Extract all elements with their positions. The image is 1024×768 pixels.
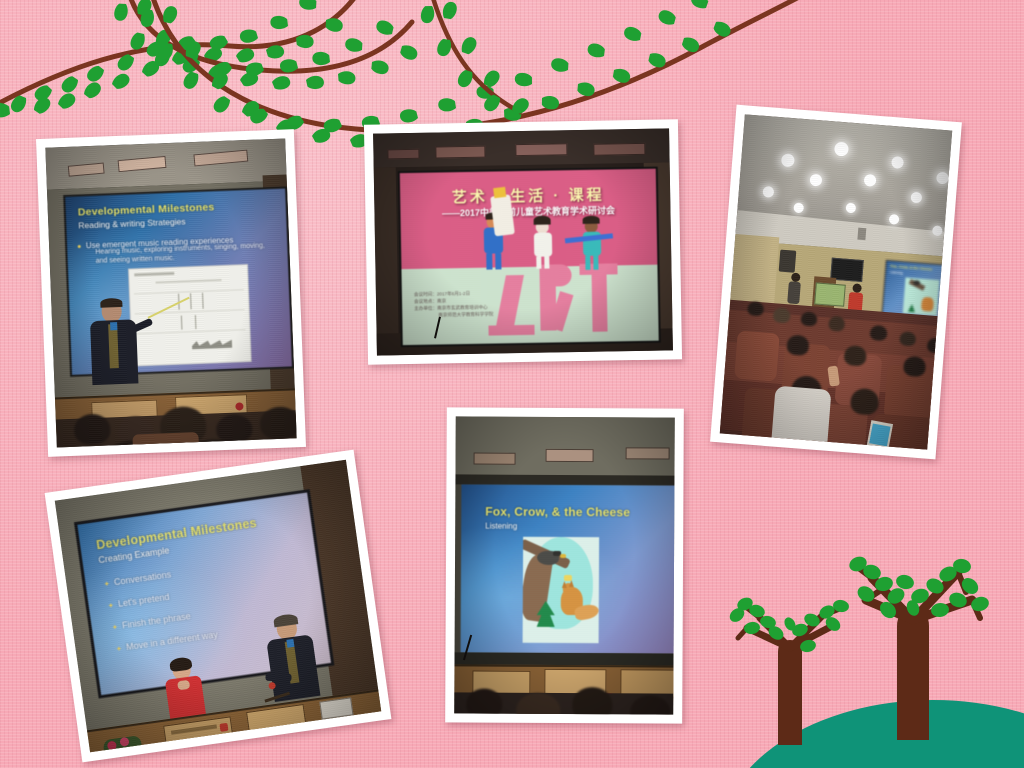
ceiling-lamp-icon xyxy=(626,447,670,459)
red-accent xyxy=(219,723,228,732)
photo-content: Developmental Milestones Creating Exampl… xyxy=(55,460,381,752)
slide-subtitle: Listening xyxy=(485,522,517,531)
ceiling-lamp-icon xyxy=(515,143,567,156)
presenter-figure xyxy=(83,299,146,391)
display-board xyxy=(814,282,846,306)
ceiling-lamp-icon xyxy=(387,149,419,160)
slide-footer-info: 会议时间：2017年6月1-2日 会议地点：南京 主办单位：南京市玄武教育培训中… xyxy=(414,290,494,319)
seat-back xyxy=(132,432,199,447)
photo-auditorium-audience[interactable]: Fox, Crow, & the Cheese Listening xyxy=(710,105,962,460)
ceiling-lamp-icon xyxy=(474,453,516,465)
photo-content: Developmental Milestones Reading & writi… xyxy=(45,139,296,448)
photo-conference-title-slide[interactable]: 艺术 · 生活 · 课程 ——2017中美学前儿童艺术教育学术研讨会 xyxy=(364,119,682,364)
speaker-box-icon xyxy=(779,250,797,273)
slide-title: Developmental Milestones xyxy=(78,201,215,218)
photo-two-presenters[interactable]: Developmental Milestones Creating Exampl… xyxy=(45,450,392,763)
photo-content: Fox, Crow, & the Cheese Listening xyxy=(720,114,952,449)
bullet-marker: ✦ xyxy=(112,624,119,632)
ceiling-lamp-icon xyxy=(593,143,645,156)
slide-image-music-notation xyxy=(128,264,252,367)
bullet-text: Conversations xyxy=(113,569,171,587)
slide-subtitle: Listening xyxy=(890,270,903,275)
slide-title: Developmental Milestones xyxy=(95,516,257,552)
kid-figure-white xyxy=(531,214,556,268)
slide-image-fox-crow xyxy=(903,277,940,316)
bullet-text: Move in a different way xyxy=(125,629,218,652)
slide-image-fox-crow xyxy=(523,537,600,643)
ceiling-lamp-icon xyxy=(435,146,485,159)
projection-screen: Fox, Crow, & the Cheese Listening xyxy=(461,484,675,653)
bullet-text: Let's pretend xyxy=(117,592,170,609)
photo-fox-crow-slide[interactable]: Fox, Crow, & the Cheese Listening xyxy=(445,407,684,723)
bullet-marker: ✦ xyxy=(108,603,115,611)
bullet-marker: ✦ xyxy=(104,581,111,589)
bullet-marker: ✦ xyxy=(116,646,123,654)
photo-presenter-pointing[interactable]: Developmental Milestones Reading & writi… xyxy=(36,129,306,457)
ceiling-lamp-icon xyxy=(546,449,594,462)
person-standing xyxy=(786,272,802,305)
slide-bullet-list: ✦ Conversations ✦ Let's pretend ✦ Finish… xyxy=(102,559,218,657)
footer-line-4: 南京师范大学教育科学学院 xyxy=(414,311,493,319)
photo-content: Fox, Crow, & the Cheese Listening xyxy=(454,416,675,714)
collage-canvas: Developmental Milestones Reading & writi… xyxy=(0,0,1024,768)
slide-title: Fox, Crow, & the Cheese xyxy=(485,505,630,520)
seat-back xyxy=(734,330,780,381)
slide-subtitle: Reading & writing Strategies xyxy=(78,216,186,230)
wall-left xyxy=(374,167,399,355)
person-white-shirt xyxy=(771,386,832,450)
photo-content: 艺术 · 生活 · 课程 ——2017中美学前儿童艺术教育学术研讨会 xyxy=(373,128,673,355)
bullet-marker: ● xyxy=(77,243,81,250)
sign-card xyxy=(319,697,353,719)
bullet-text: Finish the phrase xyxy=(121,611,191,631)
cheese-icon xyxy=(564,575,572,581)
kid-figure-teal xyxy=(579,214,606,270)
